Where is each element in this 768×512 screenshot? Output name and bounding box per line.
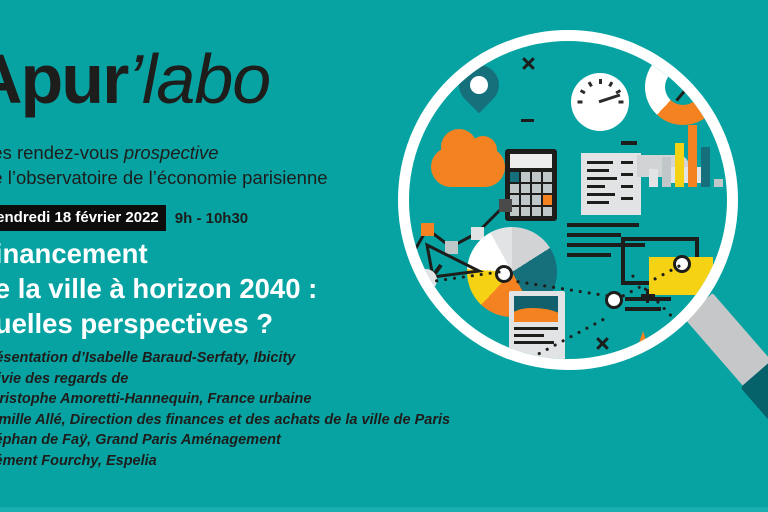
tagline-line-2: de l’observatoire de l’économie parisien… [0,165,462,190]
speakers-list: Présentation d’Isabelle Baraud-Serfaty, … [0,348,480,471]
headline-line-2: de la ville à horizon 2040 : [0,271,478,306]
poster-canvas: Apur’labo Les rendez-vous prospective de… [0,0,768,512]
list-item: Stéphan de Faÿ, Grand Paris Aménagement [0,430,480,451]
page-title: Financement de la ville à horizon 2040 :… [0,236,478,341]
speakers-intro: Présentation d’Isabelle Baraud-Serfaty, … [0,348,480,369]
logo-suffix: ’labo [127,40,270,118]
list-item: Clément Fourchy, Espelia [0,451,480,472]
list-item: Camille Allé, Direction des finances et … [0,410,480,431]
tagline-line-1: Les rendez-vous prospective [0,140,462,165]
headline-line-1: Financement [0,236,478,271]
date-badge: Vendredi 18 février 2022 [0,205,166,231]
tagline-line-1-prefix: Les rendez-vous [0,142,124,163]
speakers-followed-by: suivie des regards de [0,369,480,390]
logo: Apur’labo [0,44,270,114]
list-item: Christophe Amoretti-Hannequin, France ur… [0,389,480,410]
event-time: 9h - 10h30 [175,210,248,227]
text-content: Apur’labo Les rendez-vous prospective de… [0,0,470,512]
bottom-strip [0,507,768,512]
logo-brand: Apur [0,40,127,118]
tagline-line-1-italic: prospective [124,142,219,163]
headline-line-3: quelles perspectives ? [0,306,478,341]
tagline: Les rendez-vous prospective de l’observa… [0,140,462,190]
event-date-row: Vendredi 18 février 2022 9h - 10h30 [0,205,248,231]
